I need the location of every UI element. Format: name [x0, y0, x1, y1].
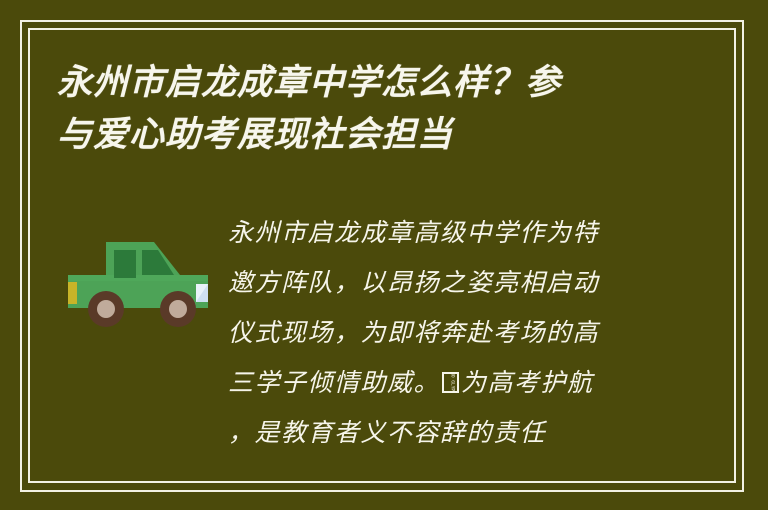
body-line-4-text: 三学子倾情助威。: [228, 368, 440, 397]
body-line-3: 仪式现场，为即将奔赴考场的高: [228, 308, 652, 358]
body-line-1-text: 永州市启龙成章高级中学作为特: [228, 218, 599, 247]
body-line-5: ，是教育者义不容辞的责任: [228, 408, 652, 458]
body-line-3-text: 仪式现场，为即将奔赴考场的高: [228, 318, 599, 347]
body-line-5-text: ，是教育者义不容辞的责任: [228, 418, 546, 447]
truck-illustration: [62, 228, 222, 340]
headline-block: 永州市启龙成章中学怎么样？参 与爱心助考展现社会担当: [57, 57, 617, 161]
missing-glyph-box: NO GLYPH: [442, 372, 459, 393]
headline-line-2: 与爱心助考展现社会担当: [57, 109, 617, 161]
body-copy-block: 永州市启龙成章高级中学作为特 邀方阵队，以昂扬之姿亮相启动 仪式现场，为即将奔赴…: [228, 208, 652, 458]
poster-canvas: 永州市启龙成章中学怎么样？参 与爱心助考展现社会担当 永: [0, 0, 768, 510]
body-line-2: 邀方阵队，以昂扬之姿亮相启动: [228, 258, 652, 308]
headline-line-1: 永州市启龙成章中学怎么样？参: [57, 57, 617, 109]
missing-glyph-label: NO GLYPH: [448, 372, 453, 393]
pickup-truck-icon: [62, 228, 222, 340]
body-line-1: 永州市启龙成章高级中学作为特: [228, 208, 652, 258]
body-line-2-text: 邀方阵队，以昂扬之姿亮相启动: [228, 268, 599, 297]
body-line-4: 三学子倾情助威。NO GLYPH为高考护航: [228, 358, 652, 408]
body-line-4-text-tail: 为高考护航: [461, 368, 594, 397]
